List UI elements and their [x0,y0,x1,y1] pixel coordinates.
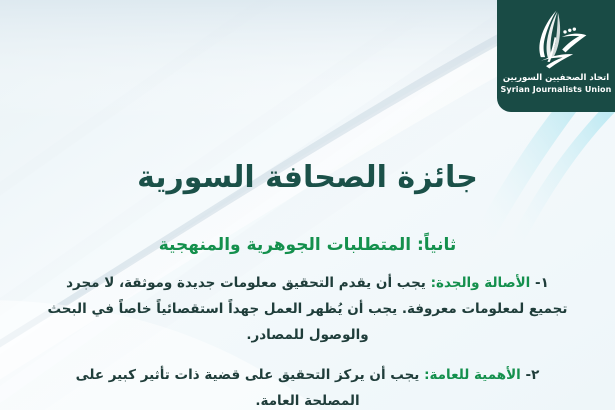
item-number: ٢- [525,367,539,383]
item-body: يجب أن يركز التحقيق على قضية ذات تأثير ك… [76,367,420,409]
slide-canvas: اتحاد الصحفيين السوريين Syrian Journalis… [0,0,615,410]
list-item: ١- الأصالة والجدة: يجب أن يقدم التحقيق م… [46,270,569,349]
list-item: ٢- الأهمية للعامة: يجب أن يركز التحقيق ع… [46,362,569,410]
logo-wordmark: اتحاد الصحفيين السوريين Syrian Journalis… [501,74,612,94]
item-term: الأصالة والجدة: [431,275,531,291]
organization-logo-badge: اتحاد الصحفيين السوريين Syrian Journalis… [497,0,615,112]
quill-feather-icon [518,8,594,72]
logo-arabic-name: اتحاد الصحفيين السوريين [501,74,612,84]
section-heading: ثانياً: المتطلبات الجوهرية والمنهجية [0,235,615,255]
item-term: الأهمية للعامة: [424,367,521,383]
page-title: جائزة الصحافة السورية [0,160,615,195]
requirements-list: ١- الأصالة والجدة: يجب أن يقدم التحقيق م… [46,256,569,410]
item-number: ١- [535,275,549,291]
logo-english-name: Syrian Journalists Union [501,85,612,94]
